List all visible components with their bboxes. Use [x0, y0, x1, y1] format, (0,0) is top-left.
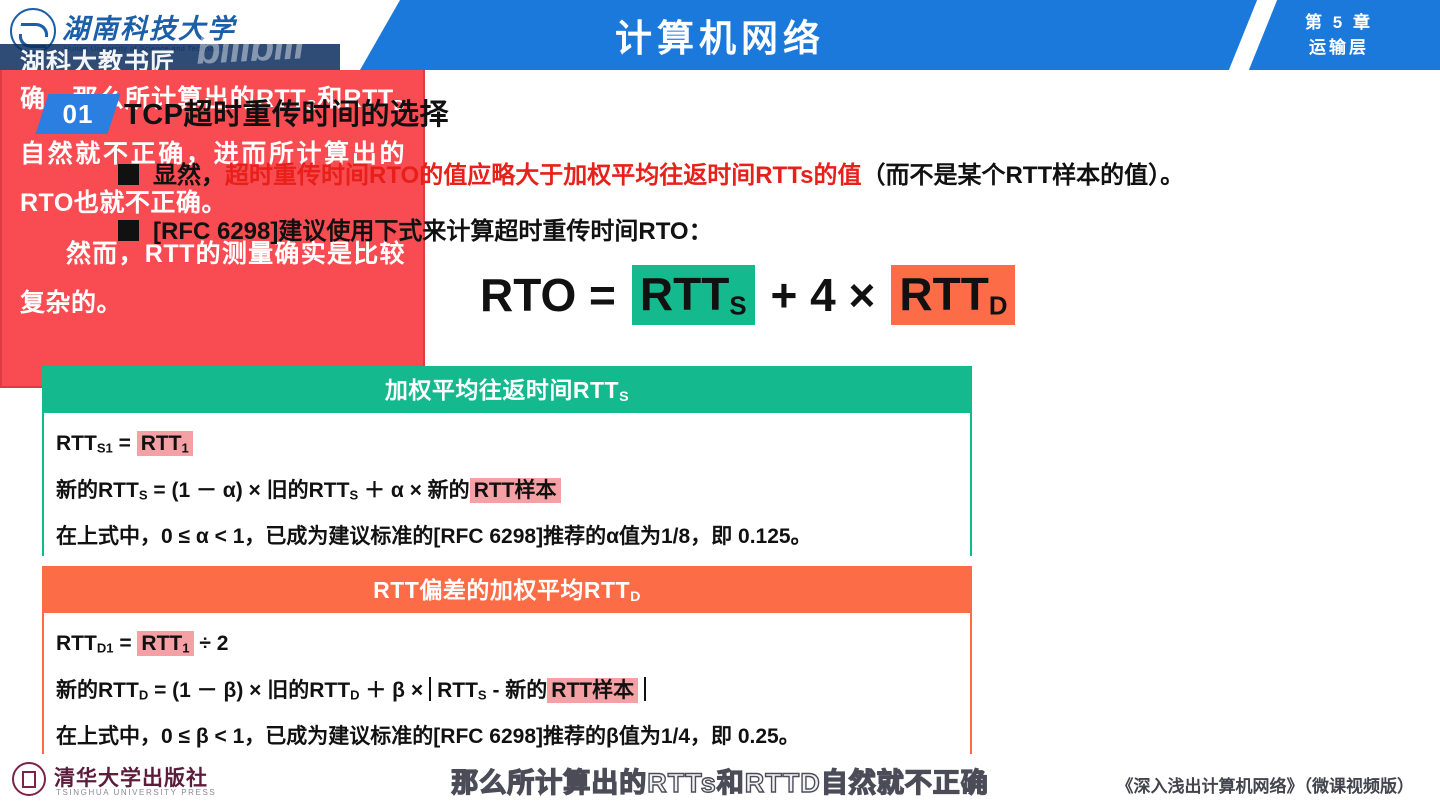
green-row-2: 新的RTTS = (1 － α) × 旧的RTTS ＋ α × 新的RTT样本	[56, 474, 958, 513]
orange-row1-highlight: RTT1	[137, 631, 193, 656]
formula-term-rtts: RTTS	[632, 265, 755, 326]
formula-term-rttd: RTTD	[891, 265, 1015, 326]
panel-green-header-sub: S	[619, 389, 629, 405]
green-row1-hl-base: RTT	[141, 432, 182, 455]
panel-green-header-base: 加权平均往返时间RTT	[385, 377, 619, 403]
panel-orange-header-sub: D	[630, 589, 641, 605]
orange-row-3: 在上式中，0 ≤ β < 1，已成为建议标准的[RFC 6298]推荐的β值为1…	[56, 720, 958, 754]
orange-row1-hl-base: RTT	[141, 632, 182, 655]
orange-row2-p4: RTT	[437, 679, 478, 702]
section-number: 01	[42, 94, 114, 134]
orange-row1-lhs-sub: D1	[97, 641, 114, 656]
orange-row1-tail: ÷ 2	[199, 632, 228, 655]
panel-weighted-average-rttd: RTT偏差的加权平均RTTD RTTD1 = RTT1 ÷ 2 新的RTTD =…	[42, 566, 972, 754]
green-row2-p3: ＋ α × 新的	[364, 479, 470, 502]
section-number-badge: 01	[36, 94, 121, 134]
orange-row-1: RTTD1 = RTT1 ÷ 2	[56, 627, 958, 666]
green-row2-p1: 新的RTT	[56, 479, 139, 502]
green-row1-eq: =	[119, 432, 131, 455]
bullet-item-1: 显然，超时重传时间RTO的值应略大于加权平均往返时间RTTs的值（而不是某个RT…	[118, 155, 1184, 190]
chapter-name: 运输层	[1274, 35, 1404, 60]
rto-formula: RTO = RTTS + 4 × RTTD	[480, 268, 1015, 322]
bullet-item-2: [RFC 6298]建议使用下式来计算超时重传时间RTO：	[118, 211, 713, 246]
orange-row2-p2-sub: D	[350, 687, 359, 702]
formula-term1-base: RTT	[640, 268, 729, 320]
bullet-square-icon	[118, 164, 139, 185]
green-row1-lhs: RTT	[56, 432, 97, 455]
bullet-1-highlight: 超时重传时间RTO的值应略大于加权平均往返时间RTTs的值	[225, 162, 861, 189]
orange-row1-hl-sub: 1	[182, 641, 189, 656]
green-row2-p2: = (1 － α) × 旧的RTT	[153, 479, 349, 502]
book-title: 《深入浅出计算机网络》（微课视频版）	[1117, 772, 1415, 797]
orange-row2-p5: - 新的	[492, 679, 547, 702]
green-row1-hl-sub: 1	[182, 441, 189, 456]
green-row2-p2-sub: S	[349, 487, 358, 502]
orange-row1-eq: =	[119, 632, 131, 655]
formula-operator: + 4 ×	[771, 268, 876, 322]
orange-row2-p3: ＋ β ×	[365, 679, 423, 702]
abs-bar-close-icon	[644, 677, 646, 701]
orange-row1-lhs: RTT	[56, 632, 97, 655]
bullet-2-text: [RFC 6298]建议使用下式来计算超时重传时间RTO：	[153, 218, 713, 245]
bullet-1-tail: （而不是某个RTT样本的值）。	[861, 162, 1184, 189]
panel-green-header: 加权平均往返时间RTTS	[44, 368, 970, 413]
green-row1-lhs-sub: S1	[97, 441, 113, 456]
formula-term2-base: RTT	[899, 268, 988, 320]
panel-orange-body: RTTD1 = RTT1 ÷ 2 新的RTTD = (1 － β) × 旧的RT…	[44, 613, 970, 768]
orange-row2-p1: 新的RTT	[56, 679, 139, 702]
green-row2-highlight: RTT样本	[470, 478, 561, 503]
section-title: TCP超时重传时间的选择	[124, 94, 449, 134]
green-row-1: RTTS1 = RTT1	[56, 427, 958, 466]
abs-bar-open-icon	[429, 677, 431, 701]
formula-term1-sub: S	[729, 292, 746, 320]
panel-orange-header: RTT偏差的加权平均RTTD	[44, 568, 970, 613]
orange-row-2: 新的RTTD = (1 － β) × 旧的RTTD ＋ β ×RTTS - 新的…	[56, 674, 958, 713]
watermark-author: 湖科大教书匠	[20, 43, 176, 70]
slide-header: 湖南科技大学 Hunan University of Science and T…	[0, 0, 1440, 70]
bilibili-watermark: bilibili	[195, 23, 305, 70]
green-row-3: 在上式中，0 ≤ α < 1，已成为建议标准的[RFC 6298]推荐的α值为1…	[56, 520, 958, 554]
panel-weighted-average-rtts: 加权平均往返时间RTTS RTTS1 = RTT1 新的RTTS = (1 － …	[42, 366, 972, 556]
panel-orange-header-base: RTT偏差的加权平均RTT	[373, 577, 630, 603]
bullet-1-lead: 显然，	[153, 162, 225, 189]
header-divider-slash	[1226, 0, 1279, 70]
formula-term2-sub: D	[989, 292, 1008, 320]
orange-row2-p1-sub: D	[139, 687, 148, 702]
bullet-square-icon	[118, 220, 139, 241]
orange-row2-p4-sub: S	[478, 687, 487, 702]
formula-lhs: RTO =	[480, 268, 616, 322]
green-row2-p1-sub: S	[139, 487, 148, 502]
orange-row2-p2: = (1 － β) × 旧的RTT	[154, 679, 350, 702]
panel-green-body: RTTS1 = RTT1 新的RTTS = (1 － α) × 旧的RTTS ＋…	[44, 413, 970, 568]
orange-row2-highlight: RTT样本	[547, 678, 638, 703]
chapter-label: 第 5 章 运输层	[1274, 10, 1404, 60]
green-row1-highlight: RTT1	[137, 431, 193, 456]
chapter-number: 第 5 章	[1274, 10, 1404, 35]
